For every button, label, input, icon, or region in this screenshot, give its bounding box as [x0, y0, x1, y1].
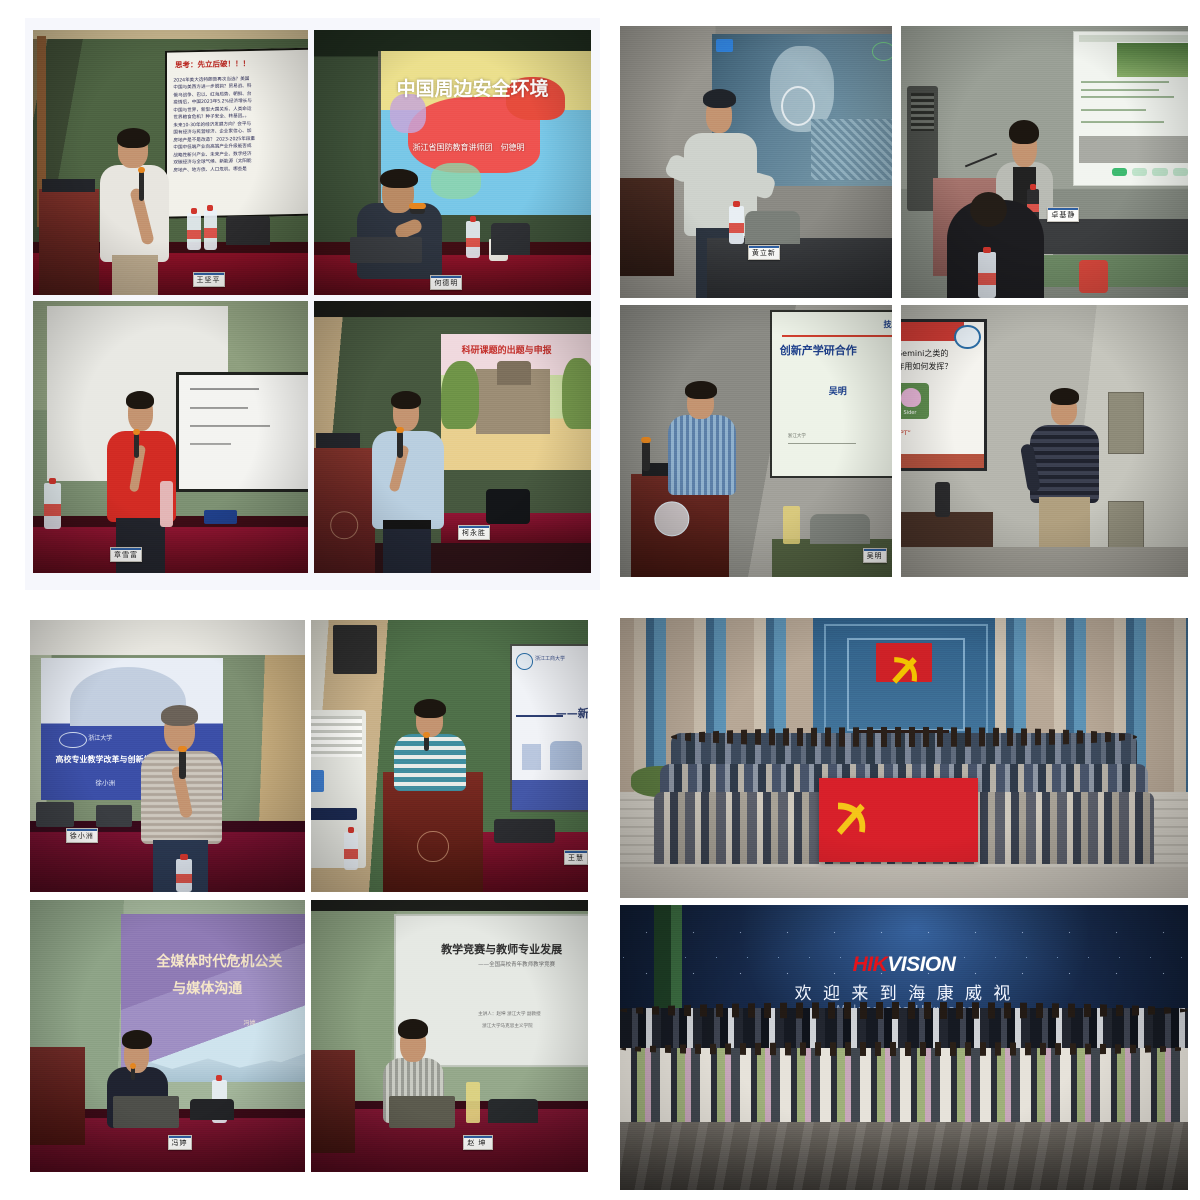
slide-presenter: 徐小洲	[95, 777, 115, 787]
photo-group-top-left: 思考：先立后破！！！ 2024年美大选特朗普再次当选？美国 中国与美西方进一步脱…	[25, 18, 600, 590]
slide-bullet: 房地产是不是改造？ 2023-2025年段重	[173, 136, 255, 143]
nameplate: 章雪富	[110, 547, 142, 562]
slide-bullet: 双碳经济与全球气候、新能源（太阳能	[173, 159, 251, 166]
slide-affiliation: 浙江大学马克思主义学院	[482, 1023, 533, 1029]
logo-vision: VISION	[887, 953, 955, 976]
nameplate: 何德明	[430, 275, 462, 290]
nameplate: 卓基静	[1047, 207, 1079, 222]
slide-presenter: 吴明	[829, 384, 847, 397]
welcome-chinese: 欢 迎 来 到 海 康 威 视	[620, 979, 1188, 1004]
photo-huang-lixin[interactable]: 黄立新	[620, 26, 892, 298]
slide-bullet: 中国中低端产业向高端产业升级能否成	[173, 144, 251, 151]
slide-title: 创新产学研合作	[780, 342, 857, 358]
photo-group-party-flag[interactable]	[620, 618, 1188, 898]
photo-group-hikvision[interactable]: HIKVISION 欢 迎 来 到 海 康 威 视 Welcome to Hik…	[620, 905, 1188, 1190]
slide-bullet: 中国与美西方进一步脱钩？贸易战、科	[173, 84, 251, 91]
photo-zhang-xuefu[interactable]: 章雪富	[33, 301, 308, 573]
slide-bullet: 战略性新兴产业、未来产业、数字经济	[173, 151, 251, 158]
hikvision-logo: HIKVISION	[620, 953, 1188, 977]
party-flag	[819, 778, 978, 862]
slide-presenter: 冯婷	[244, 1018, 256, 1027]
slide-bullet: 国有经济与民营经济、企业家信心、加	[173, 129, 251, 136]
nameplate: 王慧	[564, 850, 588, 865]
slide-bullet: 2024年美大选特朗普再次当选？美国	[173, 76, 249, 83]
slide-footnote: 用的“ChatGPT”	[901, 427, 911, 437]
slide-bullet: 疫情后，中国2023年5.2%经济增长与	[173, 99, 252, 106]
slide-org: 浙江工商大学	[535, 655, 565, 662]
slide-title: 科研课题的出题与申报	[462, 343, 552, 356]
photo-group-top-right: 黄立新	[620, 26, 1188, 592]
slide-title: ——新	[556, 705, 588, 721]
logo-hik: HIK	[853, 953, 888, 976]
slide-bullet: 房地产、地方债、人口危机、哪些是	[173, 166, 247, 173]
photo-ai-lecture[interactable]: Gemini之类的 的作用如何发挥？ Sider 用的“ChatGPT”	[901, 305, 1188, 577]
hammer-and-sickle-icon	[828, 791, 873, 843]
photo-group-bottom-right: HIKVISION 欢 迎 来 到 海 康 威 视 Welcome to Hik…	[620, 618, 1188, 1190]
photo-feng-ting[interactable]: 全媒体时代危机公关 与媒体沟通 冯婷	[30, 900, 305, 1172]
slide-org: 浙江大学	[88, 733, 112, 742]
slide-subtitle: 浙江省国防教育讲师团 何德明	[413, 142, 525, 153]
photo-collage: 思考：先立后破！！！ 2024年美大选特朗普再次当选？美国 中国与美西方进一步脱…	[0, 0, 1200, 1200]
slide-presenter: 主讲人：赵坤 浙江大学 副教授	[478, 1011, 541, 1017]
nameplate: 王坚平	[193, 272, 225, 287]
nameplate: 柯永胜	[458, 525, 490, 540]
nameplate: 徐小洲	[66, 828, 98, 843]
slide-title: 教学竞赛与教师专业发展	[441, 941, 562, 957]
photo-wu-ming[interactable]: 技术 创新产学研合作 吴明 浙江大学	[620, 305, 892, 577]
slide-bullet: 俄乌战争、巴以、红海局势、朝鲜、台	[173, 91, 251, 98]
slide-line2: 的作用如何发挥？	[901, 361, 952, 372]
slide-line1: Gemini之类的	[901, 348, 948, 359]
photo-wang-hui[interactable]: 浙江工商大学 ——新	[311, 620, 588, 892]
slide-title-line1: 全媒体时代危机公关	[156, 951, 282, 971]
slide-affiliation: 浙江大学	[788, 433, 806, 439]
slide-bullet: 中国与世界，新型大国关系、人类命运	[173, 106, 251, 113]
photo-zhao-kun[interactable]: 教学竞赛与教师专业发展 ——全国高校青年教师教学竞赛 主讲人：赵坤 浙江大学 副…	[311, 900, 588, 1172]
slide-app-label: Sider	[904, 410, 917, 416]
slide-bullet: 未来10-30年的经济发展方向？会平与	[173, 121, 251, 128]
photo-xu-xiaozhou[interactable]: 浙江大学 高校专业教学改革与创新发展 徐小洲	[30, 620, 305, 892]
slide-eyebrow: 技术	[883, 319, 892, 330]
nameplate: 黄立新	[748, 245, 780, 260]
slide-title: 中国周边安全环境	[397, 74, 549, 101]
photo-he-deming[interactable]: 中国周边安全环境 浙江省国防教育讲师团 何德明 何德明	[314, 30, 591, 295]
photo-ke-yongsheng[interactable]: 科研课题的出题与申报	[314, 301, 591, 573]
slide-subtitle: ——全国高校青年教师教学竞赛	[478, 960, 555, 968]
photo-zhuo-suyun[interactable]: 卓基静	[901, 26, 1188, 298]
party-emblem-plaque	[876, 643, 933, 682]
photo-wang-jianping[interactable]: 思考：先立后破！！！ 2024年美大选特朗普再次当选？美国 中国与美西方进一步脱…	[33, 30, 308, 295]
slide-title-line2: 与媒体沟通	[172, 978, 242, 998]
slide-bullet: 世界粮食危机？种子安全、转基因。。	[173, 114, 249, 121]
hammer-and-sickle-icon	[884, 649, 925, 690]
crowd-front-row	[620, 1048, 1188, 1122]
slide-title: 思考：先立后破！！！	[175, 57, 250, 70]
photo-group-bottom-left: 浙江大学 高校专业教学改革与创新发展 徐小洲	[25, 612, 600, 1190]
nameplate: 赵坤	[463, 1135, 493, 1150]
nameplate: 吴明	[863, 548, 887, 563]
nameplate: 冯婷	[168, 1135, 192, 1150]
